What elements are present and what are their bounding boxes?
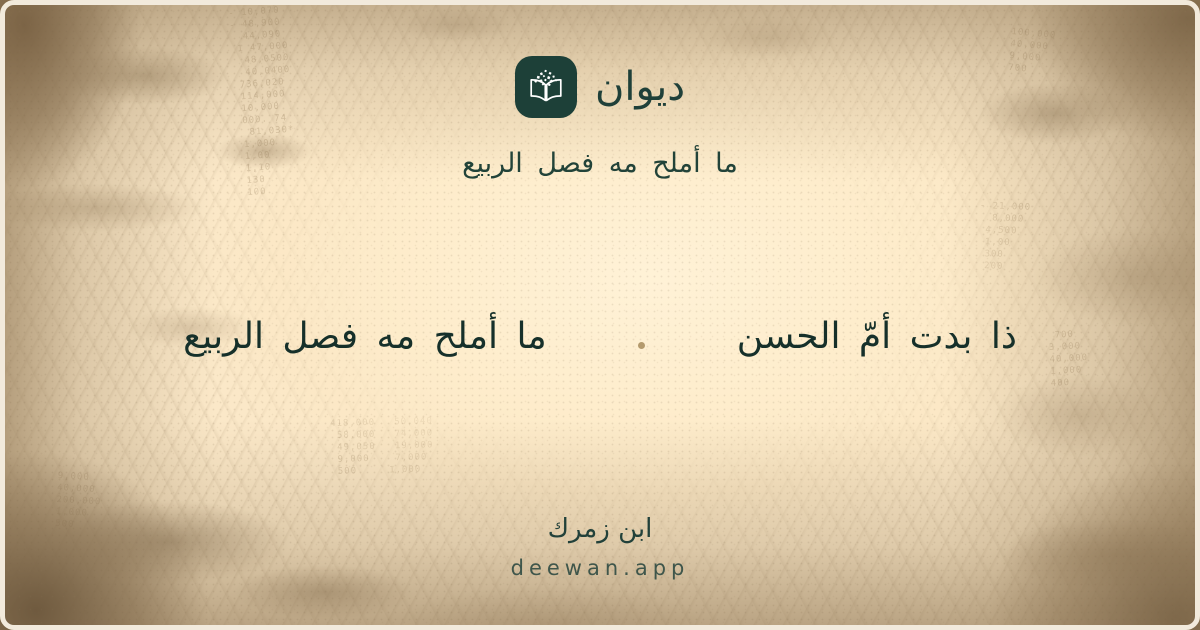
logo-badge [515, 56, 577, 118]
poem-title: ما أملح مه فصل الربيع [462, 144, 738, 183]
brand-name: ديوان [595, 67, 685, 107]
verse-line: ما أملح مه فصل الربيع ذا بدت أمّ الحسن [0, 310, 1200, 364]
open-book-sparkles-icon [526, 69, 566, 105]
verse-separator [547, 326, 737, 349]
brand-header: ديوان [515, 56, 685, 118]
card-content: ديوان ما أملح مه فصل الربيع ما أملح مه ف… [0, 0, 1200, 630]
verse-first-hemistich: ما أملح مه فصل الربيع [183, 310, 547, 364]
verse-second-hemistich: ذا بدت أمّ الحسن [737, 310, 1017, 364]
poem-author: ابن زمرك [0, 512, 1200, 547]
card-footer: ابن زمرك deewan.app [0, 512, 1200, 580]
share-card: 10,070 - 48,900 - 44,090 47,000 1 48,050… [0, 0, 1200, 630]
site-url: deewan.app [0, 556, 1200, 580]
separator-dot-icon [638, 342, 645, 349]
